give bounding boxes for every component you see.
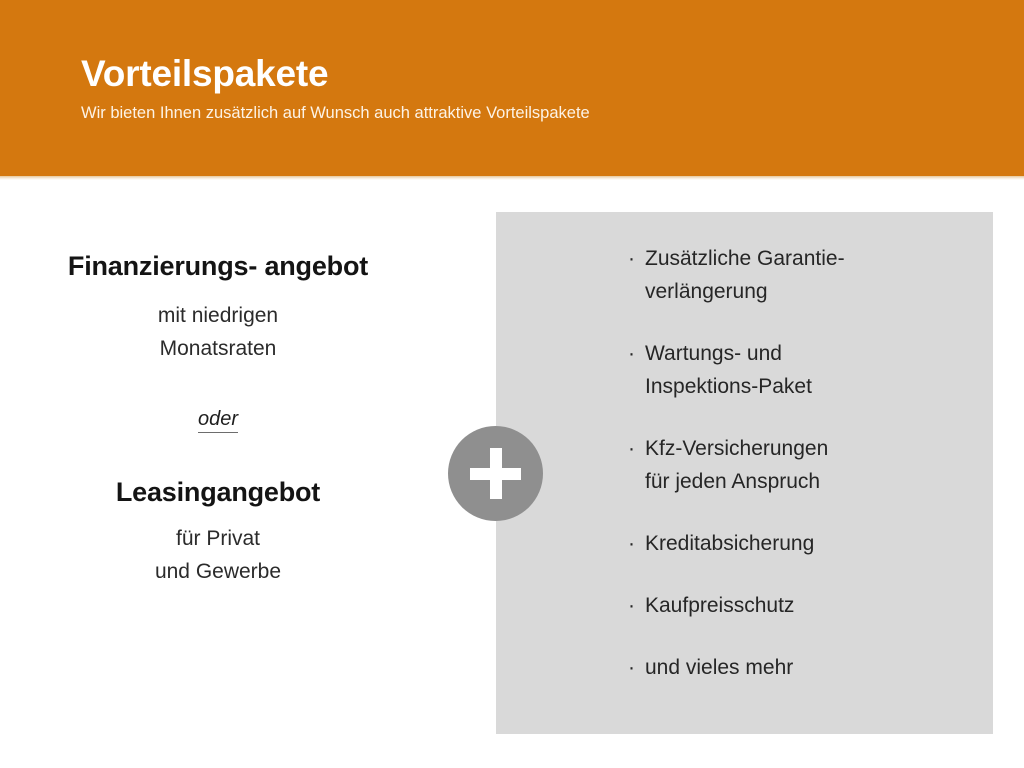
bullet-icon: ·: [628, 651, 635, 684]
list-item-text: Kaufpreisschutz: [645, 589, 968, 622]
header-bottom-edge: [0, 176, 1024, 180]
list-item: · und vieles mehr: [628, 651, 968, 684]
list-item-line2: Inspektions-Paket: [645, 370, 968, 403]
leasing-offer-heading: Leasingangebot: [58, 474, 378, 510]
list-item: · Kaufpreisschutz: [628, 589, 968, 622]
bullet-icon: ·: [628, 242, 635, 275]
list-item: · Zusätzliche Garantie- verlängerung: [628, 242, 968, 308]
list-item-line1: Kfz-Versicherungen: [645, 432, 968, 465]
page-title: Vorteilspakete: [81, 52, 961, 96]
list-item-line1: Wartungs- und: [645, 337, 968, 370]
leasing-offer-subtext: für Privat und Gewerbe: [58, 522, 378, 588]
plus-icon-vertical-bar: [490, 448, 502, 499]
bullet-icon: ·: [628, 432, 635, 465]
list-item-text: Kreditabsicherung: [645, 527, 968, 560]
list-item: · Kreditabsicherung: [628, 527, 968, 560]
financing-offer-heading: Finanzierungs- angebot: [58, 245, 378, 288]
list-item-line1: Zusätzliche Garantie-: [645, 242, 968, 275]
page-subtitle: Wir bieten Ihnen zusätzlich auf Wunsch a…: [81, 102, 961, 124]
slide-root: Vorteilspakete Wir bieten Ihnen zusätzli…: [0, 0, 1024, 768]
header-banner: Vorteilspakete Wir bieten Ihnen zusätzli…: [0, 0, 1024, 176]
financing-offer-heading-line1: Finanzierungs-: [68, 251, 257, 281]
list-item-line2: für jeden Anspruch: [645, 465, 968, 498]
benefits-panel: · Zusätzliche Garantie- verlängerung · W…: [496, 212, 993, 734]
leasing-offer-subtext-line1: für Privat: [58, 522, 378, 555]
leasing-offer-heading-line1: Leasingangebot: [116, 477, 320, 507]
list-item-text: Wartungs- und Inspektions-Paket: [645, 337, 968, 403]
or-divider-label: oder: [198, 408, 238, 433]
list-item-line2: verlängerung: [645, 275, 968, 308]
list-item-line1: Kaufpreisschutz: [645, 589, 968, 622]
bullet-icon: ·: [628, 589, 635, 622]
list-item: · Wartungs- und Inspektions-Paket: [628, 337, 968, 403]
list-item-line1: und vieles mehr: [645, 651, 968, 684]
bullet-icon: ·: [628, 337, 635, 370]
bullet-icon: ·: [628, 527, 635, 560]
list-item-text: Zusätzliche Garantie- verlängerung: [645, 242, 968, 308]
benefits-list: · Zusätzliche Garantie- verlängerung · W…: [628, 242, 968, 684]
financing-offer-subtext: mit niedrigen Monatsraten: [58, 299, 378, 365]
list-item-text: und vieles mehr: [645, 651, 968, 684]
or-divider: oder: [58, 408, 378, 431]
list-item-text: Kfz-Versicherungen für jeden Anspruch: [645, 432, 968, 498]
financing-offer-subtext-line2: Monatsraten: [58, 332, 378, 365]
list-item-line1: Kreditabsicherung: [645, 527, 968, 560]
leasing-offer-subtext-line2: und Gewerbe: [58, 555, 378, 588]
plus-icon: [448, 426, 543, 521]
offers-column: Finanzierungs- angebot mit niedrigen Mon…: [58, 245, 378, 588]
financing-offer-heading-line2: angebot: [264, 251, 368, 281]
financing-offer-subtext-line1: mit niedrigen: [58, 299, 378, 332]
list-item: · Kfz-Versicherungen für jeden Anspruch: [628, 432, 968, 498]
header-text-block: Vorteilspakete Wir bieten Ihnen zusätzli…: [81, 52, 961, 124]
